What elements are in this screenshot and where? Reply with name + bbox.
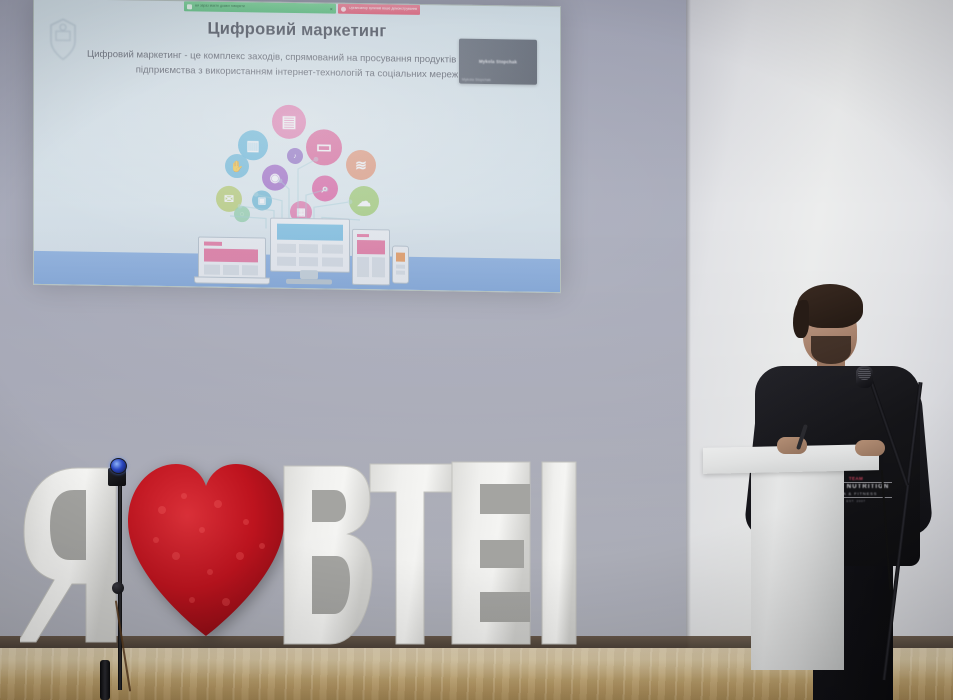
permission-granted-toast[interactable]: Ви зараз маєте дозвіл говорити ✕ <box>184 1 336 13</box>
device-mockups <box>194 212 409 287</box>
foam-letter-ie <box>448 460 532 646</box>
video-participant-tile[interactable]: Mykola Stopchak Mykola Stopchak <box>459 39 537 85</box>
close-icon[interactable]: ✕ <box>330 6 333 11</box>
tablet-mockup <box>352 229 390 286</box>
monitor-mockup <box>270 218 350 273</box>
smartphone-mockup <box>392 245 409 283</box>
participant-name: Mykola Stopchak <box>479 59 517 65</box>
wall-panel-edge <box>686 0 691 655</box>
speaker-right-hand <box>855 440 885 456</box>
slide-body-text: Цифровий маркетинг - це комплекс заходів… <box>68 47 526 83</box>
photo-scene: Ви зараз маєте дозвіл говорити ✕ Організ… <box>0 0 953 700</box>
podium-column <box>751 470 844 670</box>
camera-lens-icon <box>110 458 127 474</box>
projection-surface: Ви зараз маєте дозвіл говорити ✕ Організ… <box>33 0 561 293</box>
participant-corner-label: Mykola Stopchak <box>462 78 491 82</box>
foam-letter-ve <box>278 464 374 646</box>
laptop-mockup <box>198 236 266 281</box>
laptop-base <box>194 276 270 284</box>
foam-letter-ya <box>20 466 125 644</box>
tshirt-line-1: TEAM <box>849 476 863 481</box>
microphone-grille <box>858 368 871 380</box>
mic-icon <box>187 4 192 9</box>
permission-granted-text: Ви зараз маєте дозвіл говорити <box>195 5 327 10</box>
foam-letter-i <box>538 460 580 646</box>
speaker-beard <box>811 336 851 364</box>
monitor-foot <box>286 279 332 285</box>
foam-letters-installation <box>0 440 620 655</box>
foam-heart-icon <box>122 460 290 638</box>
meeting-notification-bar: Ви зараз маєте дозвіл говорити ✕ Організ… <box>184 1 399 14</box>
stand-joint <box>112 582 124 594</box>
tshirt-line-4: EST. 2007 <box>846 499 865 503</box>
alert-icon <box>341 6 346 11</box>
sharing-stopped-text: Організатор зупинив ваше демонстрування <box>349 7 417 11</box>
monitor-neck <box>300 270 318 279</box>
speaker-hair-side <box>793 300 809 338</box>
digital-marketing-illustration: ▤▭▥♪≋✋◉⌕✉☁▣▦◌ <box>194 101 409 289</box>
projected-slide: Ви зараз маєте дозвіл говорити ✕ Організ… <box>33 0 561 293</box>
sharing-stopped-toast[interactable]: Організатор зупинив ваше демонстрування <box>338 4 420 15</box>
floor-stand-base <box>100 660 110 700</box>
foam-letter-te <box>368 462 454 646</box>
